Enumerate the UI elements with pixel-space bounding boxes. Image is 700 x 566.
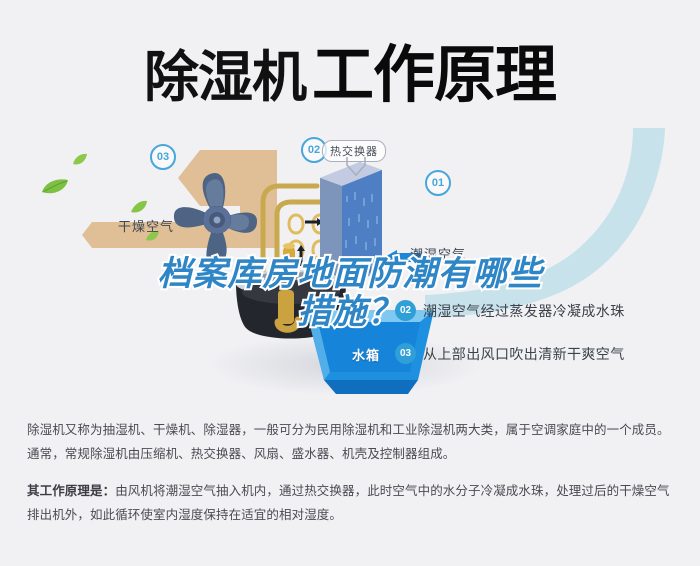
badge-01-humid-air: 01 xyxy=(425,170,451,196)
overlay-headline: 档案库房地面防潮有哪些 措施？ xyxy=(0,255,700,331)
overlay-headline-line-1: 档案库房地面防潮有哪些 xyxy=(158,255,543,293)
dry-air-label: 干燥空气 xyxy=(118,216,174,235)
page-title: 除湿机工作原理 xyxy=(0,24,700,114)
list-item: 03 从上部出风口吹出清新干爽空气 xyxy=(395,343,695,364)
leaf-icon xyxy=(40,178,70,201)
title-part-2: 工作原理 xyxy=(312,41,556,110)
paragraph-2-rest: 由风机将潮湿空气抽入机内，通过热交换器，此时空气中的水分子冷凝成水珠，处理过后的… xyxy=(27,484,670,522)
paragraph-2: 其工作原理是：由风机将潮湿空气抽入机内，通过热交换器，此时空气中的水分子冷凝成水… xyxy=(27,479,675,527)
step-badge: 03 xyxy=(395,343,416,364)
paragraph-2-lead: 其工作原理是： xyxy=(27,484,115,498)
badge-03-dry-air: 03 xyxy=(150,144,176,170)
paragraph-1: 除湿机又称为抽湿机、干燥机、除湿器，一般可分为民用除湿机和工业除湿机两大类，属于… xyxy=(27,418,675,466)
title-part-1: 除湿机 xyxy=(144,46,306,108)
body-copy: 除湿机又称为抽湿机、干燥机、除湿器，一般可分为民用除湿机和工业除湿机两大类，属于… xyxy=(27,418,675,540)
step-text: 从上部出风口吹出清新干爽空气 xyxy=(423,344,625,364)
page-root: 除湿机工作原理 xyxy=(0,0,700,566)
leaf-icon xyxy=(72,153,88,172)
overlay-headline-line-2: 措施？ xyxy=(0,293,700,331)
callout-tail-icon xyxy=(345,157,367,177)
water-tank-label: 水箱 xyxy=(352,345,380,364)
